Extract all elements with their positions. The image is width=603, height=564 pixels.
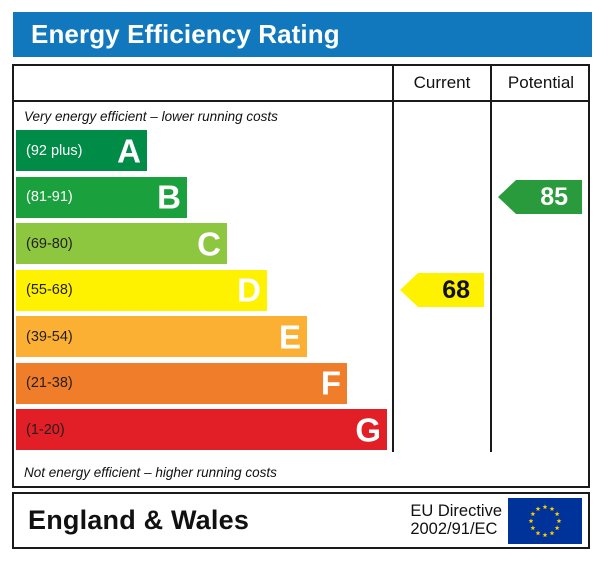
rating-bands: (92 plus)A(81-91)B(69-80)C(55-68)D(39-54…	[16, 130, 392, 456]
rating-band-c: (69-80)C	[16, 223, 227, 264]
rating-band-g: (1-20)G	[16, 409, 387, 450]
band-letter-label: E	[279, 320, 301, 353]
rating-band-b: (81-91)B	[16, 177, 187, 218]
column-header-current: Current	[392, 66, 490, 100]
band-range-label: (69-80)	[16, 236, 73, 252]
band-letter-label: D	[237, 274, 261, 307]
band-letter-label: B	[157, 181, 181, 214]
rating-band-a: (92 plus)A	[16, 130, 147, 171]
directive-line-1: EU Directive	[410, 502, 502, 521]
rating-band-e: (39-54)E	[16, 316, 307, 357]
eu-flag-icon	[508, 498, 582, 544]
band-range-label: (55-68)	[16, 282, 73, 298]
footer-bar: England & Wales EU Directive 2002/91/EC	[12, 492, 590, 549]
eu-directive-label: EU Directive 2002/91/EC	[410, 502, 502, 540]
band-range-label: (81-91)	[16, 189, 73, 205]
rating-arrow-potential: 85	[498, 180, 582, 214]
band-letter-label: G	[355, 413, 381, 446]
band-range-label: (21-38)	[16, 375, 73, 391]
caption-inefficient: Not energy efficient – higher running co…	[14, 456, 392, 488]
band-letter-label: F	[321, 367, 341, 400]
energy-rating-chart: Current Potential Very energy efficient …	[12, 64, 590, 488]
title-banner: Energy Efficiency Rating	[13, 12, 592, 57]
column-divider-potential	[490, 102, 492, 452]
band-range-label: (92 plus)	[16, 143, 82, 159]
caption-efficient: Very energy efficient – lower running co…	[14, 102, 392, 130]
column-divider-current	[392, 102, 394, 452]
rating-value-current: 68	[442, 278, 470, 303]
band-letter-label: C	[197, 227, 221, 260]
column-header-potential: Potential	[490, 66, 590, 100]
band-range-label: (39-54)	[16, 329, 73, 345]
rating-value-potential: 85	[540, 185, 568, 210]
page-title: Energy Efficiency Rating	[13, 19, 340, 50]
rating-band-f: (21-38)F	[16, 363, 347, 404]
rating-band-d: (55-68)D	[16, 270, 267, 311]
eu-flag-stars	[508, 498, 582, 544]
rating-arrow-current: 68	[400, 273, 484, 307]
band-letter-label: A	[117, 134, 141, 167]
band-range-label: (1-20)	[16, 422, 65, 438]
directive-line-2: 2002/91/EC	[410, 521, 502, 540]
table-header-row: Current Potential	[14, 66, 588, 102]
region-label: England & Wales	[14, 505, 249, 536]
